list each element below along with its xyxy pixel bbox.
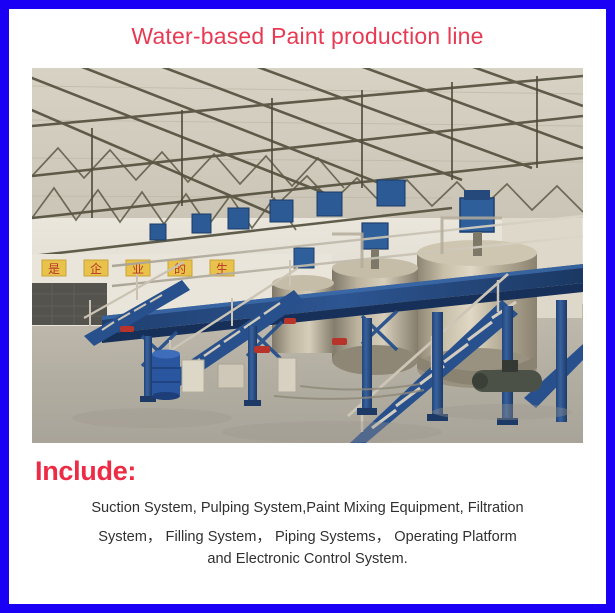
svg-text:企: 企 bbox=[90, 261, 102, 276]
page-title: Water-based Paint production line bbox=[9, 23, 606, 50]
product-image-card: Water-based Paint production line bbox=[0, 0, 615, 613]
blue-drum bbox=[152, 350, 180, 401]
product-photo: 是 企 业 的 生 bbox=[32, 68, 583, 443]
white-content-panel: Water-based Paint production line bbox=[9, 9, 606, 604]
factory-photo-illustration: 是 企 业 的 生 bbox=[32, 68, 583, 443]
include-heading: Include: bbox=[35, 456, 136, 487]
include-line-3: and Electronic Control System. bbox=[9, 551, 606, 567]
svg-text:是: 是 bbox=[48, 262, 60, 276]
include-line-1: Suction System, Pulping System,Paint Mix… bbox=[9, 500, 606, 516]
include-line-2: System， Filling System， Piping Systems， … bbox=[9, 525, 606, 546]
